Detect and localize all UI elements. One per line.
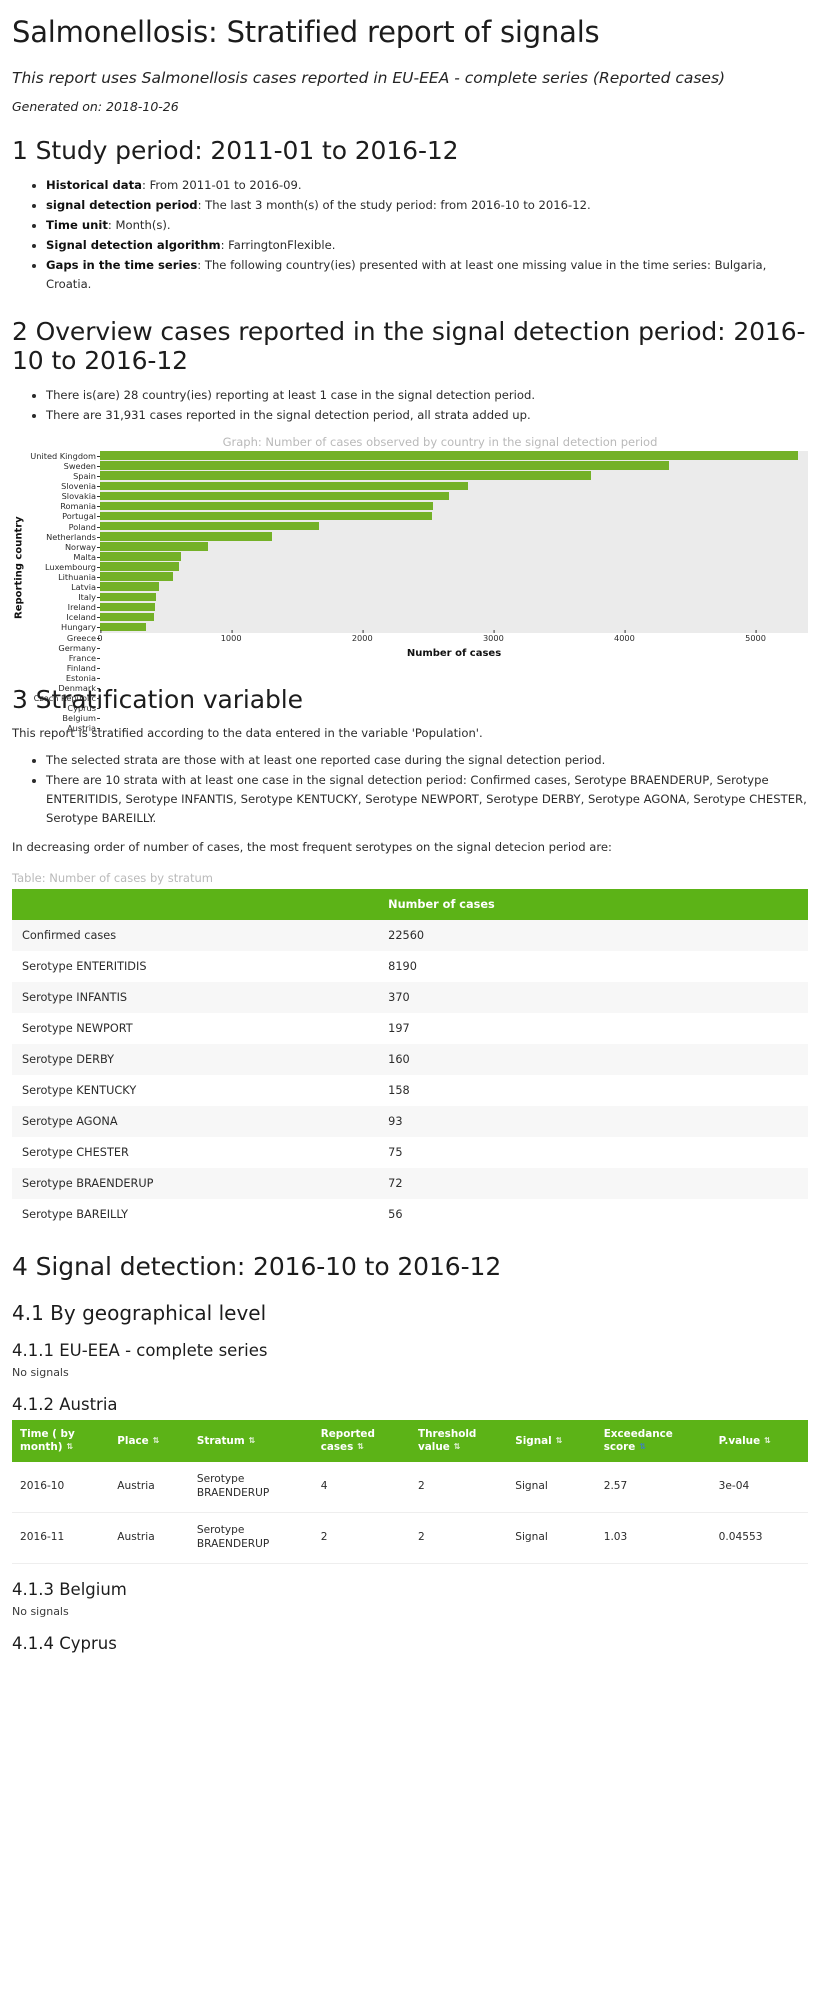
column-header-place[interactable]: Place⇅: [109, 1420, 189, 1462]
bar: [100, 562, 179, 571]
list-item: There is(are) 28 country(ies) reporting …: [46, 386, 808, 405]
sort-arrows-icon[interactable]: ⇅: [249, 1437, 256, 1445]
table-cell: 370: [378, 982, 808, 1013]
table-cell: Serotype BAREILLY: [12, 1199, 378, 1230]
bar: [100, 522, 319, 531]
x-axis-tick-labels: 010002000300040005000: [100, 633, 808, 647]
bar: [100, 572, 173, 581]
bar: [100, 542, 208, 551]
column-header-p-value[interactable]: P.value⇅: [711, 1420, 808, 1462]
y-axis-label: Latvia: [26, 582, 100, 592]
section-2-bullets: There is(are) 28 country(ies) reporting …: [12, 386, 808, 425]
y-axis-label: Lithuania: [26, 572, 100, 582]
section-3-note: In decreasing order of number of cases, …: [12, 838, 808, 857]
table-row: Serotype BAREILLY56: [12, 1199, 808, 1230]
x-axis-title: Number of cases: [100, 648, 808, 659]
table-cell: 1.03: [596, 1512, 711, 1563]
table-row: Confirmed cases22560: [12, 920, 808, 951]
table-header: Number of cases: [12, 889, 808, 920]
table-cell: Serotype INFANTIS: [12, 982, 378, 1013]
y-axis-label: Austria: [26, 723, 100, 733]
bar: [100, 613, 154, 622]
section-4-1-heading: 4.1 By geographical level: [12, 1301, 808, 1325]
bar: [100, 552, 181, 561]
y-axis-label: Greece: [26, 633, 100, 643]
list-item: There are 10 strata with at least one ca…: [46, 771, 808, 828]
table-cell: 2: [410, 1512, 507, 1563]
table-header: Time ( by month)⇅Place⇅Stratum⇅Reported …: [12, 1420, 808, 1462]
list-item: signal detection period: The last 3 mont…: [46, 196, 808, 215]
column-header-reported-cases[interactable]: Reported cases⇅: [313, 1420, 410, 1462]
y-axis-label: Luxembourg: [26, 562, 100, 572]
bullet-label: Gaps in the time series: [46, 258, 197, 272]
table-body: 2016-10AustriaSerotype BRAENDERUP42Signa…: [12, 1462, 808, 1563]
bullet-label: Signal detection algorithm: [46, 238, 221, 252]
table-row: 2016-11AustriaSerotype BRAENDERUP22Signa…: [12, 1512, 808, 1563]
y-axis-label: Portugal: [26, 511, 100, 521]
y-axis-label: Malta: [26, 552, 100, 562]
y-axis-label: Ireland: [26, 602, 100, 612]
sort-arrows-icon[interactable]: ⇅: [357, 1443, 364, 1451]
y-axis-label: Netherlands: [26, 532, 100, 542]
bar: [100, 451, 798, 460]
y-axis-label: Romania: [26, 501, 100, 511]
table-cell: 93: [378, 1106, 808, 1137]
column-header-time-by-month[interactable]: Time ( by month)⇅: [12, 1420, 109, 1462]
bar-chart: Reporting country United KingdomSwedenSp…: [12, 451, 808, 663]
bullet-label: Time unit: [46, 218, 108, 232]
cases-by-country-figure: Graph: Number of cases observed by count…: [12, 435, 808, 663]
header-row: Time ( by month)⇅Place⇅Stratum⇅Reported …: [12, 1420, 808, 1462]
report-subtitle: This report uses Salmonellosis cases rep…: [12, 67, 808, 89]
section-3-heading: 3 Stratification variable: [12, 685, 808, 715]
table-cell: 75: [378, 1137, 808, 1168]
report-page: Salmonellosis: Stratified report of sign…: [0, 0, 820, 1653]
bar: [100, 471, 591, 480]
x-axis-label: 1000: [221, 633, 242, 643]
section-4-1-4-heading: 4.1.4 Cyprus: [12, 1634, 808, 1653]
table-cell: 197: [378, 1013, 808, 1044]
no-signals-text: No signals: [12, 1605, 808, 1618]
plot-column: 010002000300040005000 Number of cases: [100, 451, 808, 663]
table-cell: Austria: [109, 1512, 189, 1563]
table-cell: 2: [313, 1512, 410, 1563]
table-cell: Serotype BRAENDERUP: [189, 1512, 313, 1563]
bar: [100, 532, 272, 541]
sort-arrows-icon[interactable]: ⇅: [556, 1437, 563, 1445]
table-cell: 3e-04: [711, 1462, 808, 1512]
table-body: Confirmed cases22560Serotype ENTERITIDIS…: [12, 920, 808, 1230]
y-axis-label: Spain: [26, 471, 100, 481]
section-1-bullets: Historical data: From 2011-01 to 2016-09…: [12, 176, 808, 295]
y-axis-label: Belgium: [26, 713, 100, 723]
table-cell: 22560: [378, 920, 808, 951]
y-axis-label: Hungary: [26, 622, 100, 632]
y-axis-label: Denmark: [26, 683, 100, 693]
table-cell: 0.04553: [711, 1512, 808, 1563]
table-cell: 8190: [378, 951, 808, 982]
bar: [100, 512, 432, 521]
sort-arrows-icon[interactable]: ⇅: [454, 1443, 461, 1451]
column-header-threshold-value[interactable]: Threshold value⇅: [410, 1420, 507, 1462]
y-axis-label: Poland: [26, 522, 100, 532]
table-cell: Serotype BRAENDERUP: [12, 1168, 378, 1199]
table-cell: Austria: [109, 1462, 189, 1512]
table-cell: 2: [410, 1462, 507, 1512]
section-3-bullets: The selected strata are those with at le…: [12, 751, 808, 829]
column-header-signal[interactable]: Signal⇅: [507, 1420, 595, 1462]
bar: [100, 582, 159, 591]
bar: [100, 593, 156, 602]
sort-arrows-icon[interactable]: ⇅: [764, 1437, 771, 1445]
status-badge: Signal: [507, 1462, 595, 1512]
table-cell: 2.57: [596, 1462, 711, 1512]
column-header-stratum[interactable]: Stratum⇅: [189, 1420, 313, 1462]
table-cell: 72: [378, 1168, 808, 1199]
y-axis-label: Slovenia: [26, 481, 100, 491]
y-axis-label: Finland: [26, 663, 100, 673]
bullet-label: Historical data: [46, 178, 142, 192]
y-axis-label: Germany: [26, 643, 100, 653]
list-item: Signal detection algorithm: FarringtonFl…: [46, 236, 808, 255]
section-1-heading: 1 Study period: 2011-01 to 2016-12: [12, 136, 808, 166]
list-item: Historical data: From 2011-01 to 2016-09…: [46, 176, 808, 195]
list-item: Gaps in the time series: The following c…: [46, 256, 808, 294]
strata-table: Number of cases Confirmed cases22560Sero…: [12, 889, 808, 1230]
plot-area: [100, 451, 808, 633]
table-cell: Confirmed cases: [12, 920, 378, 951]
x-axis-label: 4000: [614, 633, 635, 643]
table-cell: Serotype DERBY: [12, 1044, 378, 1075]
column-header-exceedance-score[interactable]: Exceedance score⇅: [596, 1420, 711, 1462]
y-axis-label: Iceland: [26, 612, 100, 622]
list-item: Time unit: Month(s).: [46, 216, 808, 235]
table-cell: Serotype ENTERITIDIS: [12, 951, 378, 982]
y-axis-title: Reporting country: [12, 451, 26, 663]
y-axis-tick-labels: United KingdomSwedenSpainSloveniaSlovaki…: [26, 451, 100, 663]
strata-table-caption: Table: Number of cases by stratum: [12, 871, 808, 885]
bullet-text: : FarringtonFlexible.: [221, 238, 336, 252]
bar: [100, 492, 449, 501]
x-axis-label: 2000: [352, 633, 373, 643]
figure-caption: Graph: Number of cases observed by count…: [12, 435, 808, 449]
y-axis-label: United Kingdom: [26, 451, 100, 461]
x-axis-label: 0: [97, 633, 102, 643]
table-row: Serotype KENTUCKY158: [12, 1075, 808, 1106]
table-row: Serotype NEWPORT197: [12, 1013, 808, 1044]
table-cell: 2016-10: [12, 1462, 109, 1512]
x-axis-label: 3000: [483, 633, 504, 643]
table-row: Serotype CHESTER75: [12, 1137, 808, 1168]
page-title: Salmonellosis: Stratified report of sign…: [12, 16, 808, 49]
table-cell: 2016-11: [12, 1512, 109, 1563]
table-row: Serotype ENTERITIDIS8190: [12, 951, 808, 982]
table-cell: Serotype NEWPORT: [12, 1013, 378, 1044]
sort-arrows-icon[interactable]: ⇅: [66, 1443, 73, 1451]
table-cell: 4: [313, 1462, 410, 1512]
sort-arrows-icon[interactable]: ⇅: [639, 1443, 646, 1451]
list-item: There are 31,931 cases reported in the s…: [46, 406, 808, 425]
section-4-1-2-heading: 4.1.2 Austria: [12, 1395, 808, 1414]
y-axis-label: Czech Republic: [26, 693, 100, 703]
section-2-heading: 2 Overview cases reported in the signal …: [12, 317, 808, 376]
generated-on: Generated on: 2018-10-26: [12, 99, 808, 114]
y-axis-label: Estonia: [26, 673, 100, 683]
column-header-stratum[interactable]: [12, 889, 378, 920]
column-header-number-of-cases[interactable]: Number of cases: [378, 889, 808, 920]
bar: [100, 603, 155, 612]
bar: [100, 482, 468, 491]
table-cell: Serotype AGONA: [12, 1106, 378, 1137]
table-row: Serotype DERBY160: [12, 1044, 808, 1075]
table-row: Serotype BRAENDERUP72: [12, 1168, 808, 1199]
sort-arrows-icon[interactable]: ⇅: [153, 1437, 160, 1445]
y-axis-label: Italy: [26, 592, 100, 602]
y-axis-label: Sweden: [26, 461, 100, 471]
table-cell: 56: [378, 1199, 808, 1230]
bullet-label: signal detection period: [46, 198, 198, 212]
y-axis-label: France: [26, 653, 100, 663]
list-item: The selected strata are those with at le…: [46, 751, 808, 770]
section-4-1-3-heading: 4.1.3 Belgium: [12, 1580, 808, 1599]
section-4-heading: 4 Signal detection: 2016-10 to 2016-12: [12, 1252, 808, 1282]
status-badge: Signal: [507, 1512, 595, 1563]
y-axis-label: Norway: [26, 542, 100, 552]
header-row: Number of cases: [12, 889, 808, 920]
x-axis-label: 5000: [745, 633, 766, 643]
table-cell: Serotype KENTUCKY: [12, 1075, 378, 1106]
table-row: Serotype AGONA93: [12, 1106, 808, 1137]
table-cell: Serotype CHESTER: [12, 1137, 378, 1168]
table-row: Serotype INFANTIS370: [12, 982, 808, 1013]
table-row: 2016-10AustriaSerotype BRAENDERUP42Signa…: [12, 1462, 808, 1512]
austria-signal-table: Time ( by month)⇅Place⇅Stratum⇅Reported …: [12, 1420, 808, 1563]
bar: [100, 502, 433, 511]
table-cell: Serotype BRAENDERUP: [189, 1462, 313, 1512]
table-cell: 158: [378, 1075, 808, 1106]
bullet-text: : From 2011-01 to 2016-09.: [142, 178, 302, 192]
no-signals-text: No signals: [12, 1366, 808, 1379]
bar: [100, 461, 669, 470]
bar: [100, 623, 146, 632]
table-cell: 160: [378, 1044, 808, 1075]
bullet-text: : The last 3 month(s) of the study perio…: [198, 198, 591, 212]
section-3-intro: This report is stratified according to t…: [12, 724, 808, 743]
bullet-text: : Month(s).: [108, 218, 171, 232]
section-4-1-1-heading: 4.1.1 EU-EEA - complete series: [12, 1341, 808, 1360]
y-axis-label: Slovakia: [26, 491, 100, 501]
y-axis-label: Cyprus: [26, 703, 100, 713]
